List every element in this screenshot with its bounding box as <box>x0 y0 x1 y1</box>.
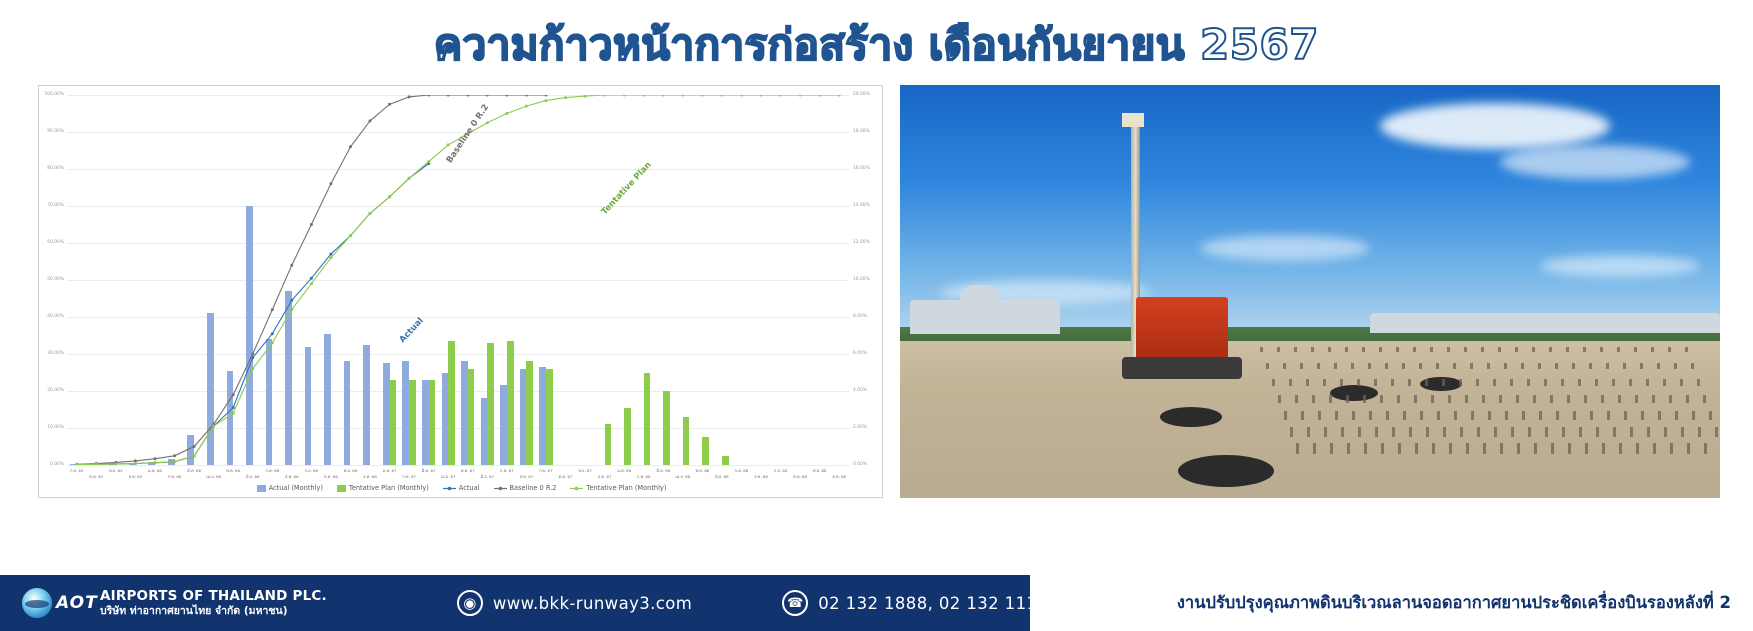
soil-pile-marker <box>1653 443 1656 454</box>
legend-bar-swatch <box>337 485 346 492</box>
soil-pile-marker <box>1296 443 1299 454</box>
line-marker <box>290 308 293 311</box>
soil-pile-marker <box>1284 411 1287 420</box>
line-marker <box>173 454 176 457</box>
pile-rig-body <box>1136 297 1228 363</box>
soil-pile-marker <box>1277 347 1280 352</box>
soil-pile-marker <box>1430 347 1433 352</box>
soil-pile-marker <box>1549 347 1552 352</box>
y-axis-right-tick: 2.00% <box>853 426 867 430</box>
soil-pile-marker <box>1590 411 1593 420</box>
soil-pile-marker <box>1260 347 1263 352</box>
soil-pile-marker <box>1351 363 1354 369</box>
legend-line-swatch <box>494 485 507 492</box>
soil-pile-marker <box>1668 347 1671 352</box>
soil-pile-marker <box>1402 363 1405 369</box>
soil-pile-marker <box>1454 411 1457 420</box>
soil-pile-marker <box>1578 379 1581 386</box>
soil-pile-marker <box>1426 427 1429 437</box>
line-marker <box>193 445 196 448</box>
chart-plot-area: 0.00%0.00%10.00%2.00%20.00%4.00%30.00%6.… <box>67 95 849 465</box>
line-marker <box>232 412 235 415</box>
soil-pile-marker <box>1697 379 1700 386</box>
soil-pile-marker <box>1449 443 1452 454</box>
line-marker <box>349 145 352 148</box>
line-marker <box>486 95 489 97</box>
legend-line-swatch <box>570 485 583 492</box>
soil-pile-marker <box>1324 427 1327 437</box>
soil-pile-marker <box>1266 363 1269 369</box>
soil-pile-marker <box>1396 347 1399 352</box>
soil-pile-marker <box>1477 427 1480 437</box>
soil-pile-marker <box>1482 395 1485 403</box>
line-marker <box>799 95 802 97</box>
soil-pile-marker <box>1647 427 1650 437</box>
line-marker <box>134 462 137 465</box>
soil-pile-marker <box>1464 347 1467 352</box>
soil-pile-marker <box>1381 443 1384 454</box>
aot-logo-text: AOT <box>56 593 98 613</box>
soil-pile-marker <box>1330 443 1333 454</box>
soil-pile-marker <box>1692 411 1695 420</box>
line-marker <box>408 177 411 180</box>
line-marker <box>525 105 528 108</box>
soil-pile-marker <box>1283 363 1286 369</box>
soil-pile-marker <box>1521 363 1524 369</box>
y-axis-right-tick: 18.00% <box>853 130 870 134</box>
soil-pile-marker <box>1278 395 1281 403</box>
soil-pile-marker <box>1652 395 1655 403</box>
legend-label: Tentative Plan (Monthly) <box>586 484 666 492</box>
soil-pile-marker <box>1460 427 1463 437</box>
y-axis-left-tick: 30.00% <box>47 352 64 356</box>
soil-pile-marker <box>1624 411 1627 420</box>
soil-pile-marker <box>1663 379 1666 386</box>
legend-label: Actual (Monthly) <box>269 484 323 492</box>
soil-pile-marker <box>1585 443 1588 454</box>
line-marker <box>271 332 274 335</box>
soil-pile-marker <box>1555 363 1558 369</box>
soil-pile-marker <box>1459 379 1462 386</box>
soil-pile-marker <box>1453 363 1456 369</box>
pipe-ring <box>1330 385 1378 401</box>
soil-pile-marker <box>1675 411 1678 420</box>
x-axis-tick: เม.ย. 67 <box>430 475 467 480</box>
x-axis-tick: ส.ค. 66 <box>273 475 310 480</box>
line-marker <box>251 367 254 370</box>
soil-pile-marker <box>1556 411 1559 420</box>
soil-pile-marker <box>1335 411 1338 420</box>
soil-pile-marker <box>1516 395 1519 403</box>
y-axis-left-tick: 10.00% <box>47 426 64 430</box>
soil-pile-marker <box>1715 427 1718 437</box>
soil-pile-marker <box>1617 347 1620 352</box>
soil-pile-marker <box>1341 427 1344 437</box>
line-marker <box>154 457 157 460</box>
y-axis-right-tick: 16.00% <box>853 167 870 171</box>
x-axis-tick: ธ.ค. 68 <box>821 475 858 480</box>
line-marker <box>369 119 372 122</box>
soil-pile-marker <box>1613 427 1616 437</box>
line-marker <box>388 195 391 198</box>
airport-terminal <box>910 300 1060 334</box>
line-marker <box>388 103 391 106</box>
line-marker <box>408 95 411 98</box>
soil-pile-marker <box>1362 347 1365 352</box>
line-marker <box>329 182 332 185</box>
soil-pile-marker <box>1534 443 1537 454</box>
legend-label: Baseline 0 R.2 <box>510 484 557 492</box>
soil-pile-marker <box>1618 395 1621 403</box>
x-axis-tick: ส.ค. 68 <box>742 475 779 480</box>
y-axis-right-tick: 20.00% <box>853 93 870 97</box>
gridline <box>67 465 849 466</box>
soil-pile-marker <box>1272 379 1275 386</box>
soil-pile-marker <box>1623 363 1626 369</box>
soil-pile-marker <box>1380 395 1383 403</box>
soil-pile-marker <box>1311 347 1314 352</box>
page-title: ความก้าวหน้าการก่อสร้าง เดือนกันยายน 256… <box>0 12 1753 78</box>
organization-name-th: บริษัท ท่าอากาศยานไทย จำกัด (มหาชน) <box>100 605 327 617</box>
soil-pile-marker <box>1669 395 1672 403</box>
soil-pile-marker <box>1363 395 1366 403</box>
soil-pile-marker <box>1703 395 1706 403</box>
y-axis-right-tick: 8.00% <box>853 315 867 319</box>
construction-photo <box>900 85 1720 498</box>
soil-pile-marker <box>1301 411 1304 420</box>
soil-pile-marker <box>1636 443 1639 454</box>
cloud-shape <box>1380 103 1610 149</box>
line-marker <box>779 95 782 97</box>
line-marker <box>740 95 743 97</box>
line-marker <box>564 96 567 99</box>
line-marker <box>193 455 196 458</box>
soil-pile-marker <box>1471 411 1474 420</box>
soil-pile-marker <box>1532 347 1535 352</box>
slide-page: ความก้าวหน้าการก่อสร้าง เดือนกันยายน 256… <box>0 0 1753 631</box>
soil-pile-marker <box>1391 379 1394 386</box>
soil-pile-marker <box>1436 363 1439 369</box>
soil-pile-marker <box>1448 395 1451 403</box>
soil-pile-marker <box>1670 443 1673 454</box>
soil-pile-marker <box>1398 443 1401 454</box>
cloud-shape <box>1500 145 1690 179</box>
soil-pile-marker <box>1447 347 1450 352</box>
soil-pile-marker <box>1573 411 1576 420</box>
x-axis-tick: เม.ย. 68 <box>664 475 701 480</box>
x-axis-tick: ต.ค. 66 <box>312 475 349 480</box>
y-axis-right-tick: 10.00% <box>853 278 870 282</box>
y-axis-left-tick: 80.00% <box>47 167 64 171</box>
soil-pile-marker <box>1641 411 1644 420</box>
legend-item[interactable]: Tentative Plan (Monthly) <box>337 484 429 492</box>
soil-pile-marker <box>1568 443 1571 454</box>
soil-pile-marker <box>1612 379 1615 386</box>
soil-pile-marker <box>1431 395 1434 403</box>
line-marker <box>466 95 469 97</box>
phone-text: 02 132 1888, 02 132 1111-2 <box>818 594 1065 613</box>
soil-pile-marker <box>1601 395 1604 403</box>
globe-icon: ◉ <box>457 590 483 616</box>
soil-pile-marker <box>1517 443 1520 454</box>
line-marker <box>349 234 352 237</box>
rig-flag <box>1122 113 1144 127</box>
line-marker <box>545 95 548 97</box>
organization-name: AIRPORTS OF THAILAND PLC. บริษัท ท่าอากา… <box>100 589 327 617</box>
soil-pile-marker <box>1419 363 1422 369</box>
soil-pile-marker <box>1561 379 1564 386</box>
legend-label: Tentative Plan (Monthly) <box>349 484 429 492</box>
soil-pile-marker <box>1307 427 1310 437</box>
line-marker <box>251 353 254 356</box>
footer-bar: AOT AIRPORTS OF THAILAND PLC. บริษัท ท่า… <box>0 575 1753 631</box>
line-marker <box>525 95 528 97</box>
soil-pile-marker <box>1562 427 1565 437</box>
soil-pile-marker <box>1595 379 1598 386</box>
soil-pile-marker <box>1488 411 1491 420</box>
line-marker <box>818 95 821 97</box>
soil-pile-marker <box>1466 443 1469 454</box>
legend-line-swatch <box>443 485 456 492</box>
line-marker <box>232 406 235 409</box>
soil-pile-marker <box>1375 427 1378 437</box>
soil-pile-marker <box>1397 395 1400 403</box>
soil-pile-marker <box>1539 411 1542 420</box>
soil-pile-marker <box>1567 395 1570 403</box>
soil-pile-marker <box>1572 363 1575 369</box>
soil-pile-marker <box>1415 443 1418 454</box>
soil-pile-marker <box>1289 379 1292 386</box>
soil-pile-marker <box>1545 427 1548 437</box>
line-marker <box>447 143 450 146</box>
soil-pile-marker <box>1664 427 1667 437</box>
soil-pile-marker <box>1425 379 1428 386</box>
legend-item[interactable]: Actual (Monthly) <box>257 484 323 492</box>
soil-pile-marker <box>1442 379 1445 386</box>
x-axis-tick: ก.พ. 66 <box>156 475 193 480</box>
line-marker <box>290 264 293 267</box>
line-marker <box>427 95 430 97</box>
pipe-ring <box>1178 455 1274 487</box>
soil-pile-marker <box>1313 443 1316 454</box>
soil-pile-marker <box>1602 443 1605 454</box>
line-marker <box>505 95 508 97</box>
line-marker <box>486 121 489 124</box>
soil-pile-marker <box>1527 379 1530 386</box>
x-axis-tick: ต.ค. 65 <box>78 475 115 480</box>
line-marker <box>290 299 293 302</box>
line-marker <box>154 461 157 464</box>
pile-rig-track <box>1122 357 1242 379</box>
soil-pile-marker <box>1500 443 1503 454</box>
soil-pile-marker <box>1657 363 1660 369</box>
line-marker <box>310 223 313 226</box>
soil-pile-marker <box>1511 427 1514 437</box>
soil-pile-marker <box>1704 443 1707 454</box>
soil-pile-marker <box>1505 411 1508 420</box>
y-axis-left-tick: 60.00% <box>47 241 64 245</box>
soil-pile-marker <box>1600 347 1603 352</box>
soil-pile-marker <box>1635 395 1638 403</box>
soil-pile-marker <box>1515 347 1518 352</box>
soil-pile-marker <box>1465 395 1468 403</box>
soil-pile-marker <box>1317 363 1320 369</box>
x-axis-tick: ต.ค. 67 <box>547 475 584 480</box>
soil-pile-marker <box>1499 395 1502 403</box>
pipe-ring <box>1160 407 1222 427</box>
globe-logo-icon <box>22 588 52 618</box>
soil-pile-marker <box>1522 411 1525 420</box>
soil-pile-marker <box>1651 347 1654 352</box>
line-marker <box>271 341 274 344</box>
soil-pile-marker <box>1368 363 1371 369</box>
terminal-tower <box>960 285 1000 305</box>
soil-pile-marker <box>1619 443 1622 454</box>
soil-pile-marker <box>1432 443 1435 454</box>
soil-pile-marker <box>1413 347 1416 352</box>
x-axis-tick: มิ.ย. 66 <box>234 475 271 480</box>
legend-item[interactable]: Baseline 0 R.2 <box>494 484 557 492</box>
soil-pile-marker <box>1686 395 1689 403</box>
soil-pile-marker <box>1306 379 1309 386</box>
soil-pile-marker <box>1347 443 1350 454</box>
soil-pile-marker <box>1646 379 1649 386</box>
soil-pile-marker <box>1596 427 1599 437</box>
line-marker <box>642 95 645 97</box>
website-info[interactable]: ◉ www.bkk-runway3.com <box>457 590 692 616</box>
website-text: www.bkk-runway3.com <box>493 594 692 613</box>
soil-pile-marker <box>1420 411 1423 420</box>
line-marker <box>720 95 723 97</box>
soil-pile-marker <box>1476 379 1479 386</box>
soil-pile-marker <box>1295 395 1298 403</box>
soil-pile-marker <box>1328 347 1331 352</box>
legend-item[interactable]: Actual <box>443 484 480 492</box>
soil-pile-marker <box>1409 427 1412 437</box>
soil-pile-marker <box>1589 363 1592 369</box>
line-marker <box>310 282 313 285</box>
soil-pile-marker <box>1483 443 1486 454</box>
soil-pile-marker <box>1528 427 1531 437</box>
line-marker <box>329 256 332 259</box>
soil-pile-marker <box>1566 347 1569 352</box>
soil-pile-marker <box>1634 347 1637 352</box>
soil-pile-marker <box>1674 363 1677 369</box>
x-axis-tick: ก.พ. 67 <box>391 475 428 480</box>
soil-pile-marker <box>1290 427 1293 437</box>
soil-pile-marker <box>1470 363 1473 369</box>
soil-pile-marker <box>1607 411 1610 420</box>
line-marker <box>505 112 508 115</box>
soil-pile-marker <box>1294 347 1297 352</box>
soil-pile-marker <box>1685 347 1688 352</box>
terminal-far <box>1370 313 1720 333</box>
y-axis-left-tick: 0.00% <box>50 463 64 467</box>
phone-info[interactable]: ☎ 02 132 1888, 02 132 1111-2 <box>782 590 1065 616</box>
soil-pile-marker <box>1323 379 1326 386</box>
aot-logo: AOT <box>22 586 88 620</box>
soil-pile-marker <box>1493 379 1496 386</box>
line-marker <box>545 99 548 102</box>
y-axis-left-tick: 90.00% <box>47 130 64 134</box>
soil-pile-marker <box>1691 363 1694 369</box>
soil-pile-marker <box>1510 379 1513 386</box>
soil-pile-marker <box>1487 363 1490 369</box>
phone-icon: ☎ <box>782 590 808 616</box>
x-axis-tick: ธ.ค. 66 <box>351 475 388 480</box>
line-marker <box>369 212 372 215</box>
soil-pile-marker <box>1329 395 1332 403</box>
progress-chart: 0.00%0.00%10.00%2.00%20.00%4.00%30.00%6.… <box>38 85 883 498</box>
y-axis-left-tick: 50.00% <box>47 278 64 282</box>
line-marker <box>603 95 606 97</box>
legend-item[interactable]: Tentative Plan (Monthly) <box>570 484 666 492</box>
soil-pile-marker <box>1414 395 1417 403</box>
line-marker <box>310 277 313 280</box>
chart-legend: Actual (Monthly)Tentative Plan (Monthly)… <box>39 484 884 492</box>
soil-pile-marker <box>1687 443 1690 454</box>
soil-pile-marker <box>1300 363 1303 369</box>
y-axis-right-tick: 6.00% <box>853 352 867 356</box>
soil-pile-marker <box>1709 411 1712 420</box>
line-marker <box>701 95 704 97</box>
y-axis-right-tick: 0.00% <box>853 463 867 467</box>
soil-pile-marker <box>1408 379 1411 386</box>
cloud-shape <box>1540 255 1700 277</box>
x-axis-tick: เม.ย. 66 <box>195 475 232 480</box>
soil-pile-marker <box>1340 379 1343 386</box>
line-marker <box>681 95 684 97</box>
line-marker <box>134 459 137 462</box>
legend-label: Actual <box>459 484 480 492</box>
soil-pile-marker <box>1346 395 1349 403</box>
soil-pile-marker <box>1358 427 1361 437</box>
soil-pile-marker <box>1345 347 1348 352</box>
x-axis-tick: ต.ค. 68 <box>782 475 819 480</box>
line-marker <box>271 308 274 311</box>
cloud-shape <box>1200 235 1370 261</box>
soil-pile-marker <box>1538 363 1541 369</box>
y-axis-right-tick: 14.00% <box>853 204 870 208</box>
soil-pile-marker <box>1606 363 1609 369</box>
soil-pile-marker <box>1550 395 1553 403</box>
soil-pile-marker <box>1583 347 1586 352</box>
y-axis-left-tick: 40.00% <box>47 315 64 319</box>
line-marker <box>329 253 332 256</box>
soil-pile-marker <box>1379 347 1382 352</box>
soil-pile-marker <box>1352 411 1355 420</box>
line-marker <box>427 160 430 163</box>
soil-pile-marker <box>1481 347 1484 352</box>
soil-pile-marker <box>1658 411 1661 420</box>
x-axis-tick: มิ.ย. 67 <box>469 475 506 480</box>
soil-pile-marker <box>1443 427 1446 437</box>
soil-pile-marker <box>1551 443 1554 454</box>
line-marker <box>838 95 841 97</box>
x-axis-tick: ธ.ค. 65 <box>117 475 154 480</box>
soil-pile-marker <box>1533 395 1536 403</box>
y-axis-right-tick: 12.00% <box>853 241 870 245</box>
soil-pile-marker <box>1640 363 1643 369</box>
soil-pile-marker <box>1504 363 1507 369</box>
y-axis-left-tick: 20.00% <box>47 389 64 393</box>
x-axis-tick: ธ.ค. 67 <box>586 475 623 480</box>
line-marker <box>232 393 235 396</box>
soil-pile-marker <box>1403 411 1406 420</box>
line-marker <box>623 95 626 97</box>
legend-bar-swatch <box>257 485 266 492</box>
soil-pile-marker <box>1698 427 1701 437</box>
